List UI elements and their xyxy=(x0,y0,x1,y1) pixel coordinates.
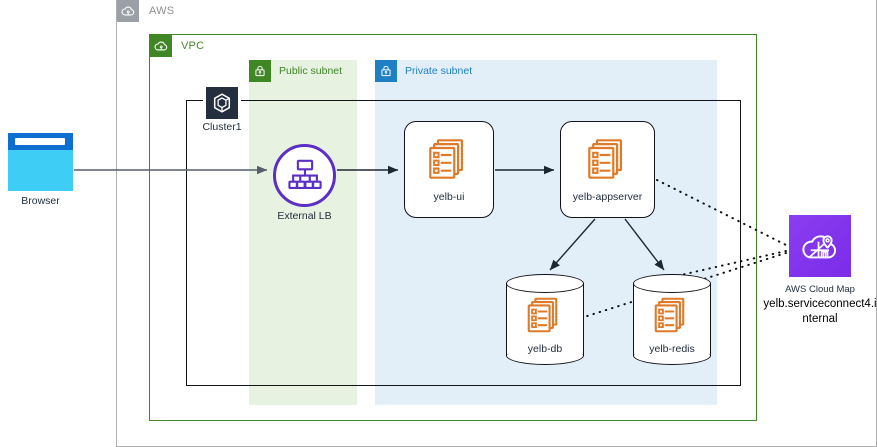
browser-node[interactable]: Browser xyxy=(8,133,73,191)
load-balancer-icon xyxy=(273,144,336,207)
aws-container-header: AWS xyxy=(117,0,174,22)
aws-cloud-map-node[interactable] xyxy=(789,215,851,277)
yelb-db-content: yelb-db xyxy=(506,292,584,358)
vpc-container-header: VPC xyxy=(150,35,204,57)
cluster1-label: Cluster1 xyxy=(142,121,302,133)
ecs-cluster-icon xyxy=(206,87,238,119)
aws-cloud-map-captions: AWS Cloud Map yelb.serviceconnect4.inter… xyxy=(763,283,877,327)
external-lb-label: External LB xyxy=(225,210,385,222)
architecture-diagram: AWS VPC xyxy=(0,0,877,447)
private-subnet-header: Private subnet xyxy=(375,60,472,82)
browser-titlebar-icon xyxy=(8,133,73,150)
cylinder-top xyxy=(633,274,711,293)
vpc-cloud-icon xyxy=(150,35,172,57)
browser-address-bar-icon xyxy=(15,138,65,145)
public-subnet-header: Public subnet xyxy=(249,60,342,82)
yelb-db-node[interactable]: yelb-db xyxy=(506,274,584,365)
external-lb-node[interactable]: External LB xyxy=(273,144,336,207)
public-subnet-label: Public subnet xyxy=(279,65,342,77)
yelb-db-label: yelb-db xyxy=(528,343,562,355)
yelb-ui-label: yelb-ui xyxy=(434,191,465,203)
ecs-task-icon xyxy=(585,136,631,187)
yelb-redis-label: yelb-redis xyxy=(649,343,695,355)
yelb-appserver-label: yelb-appserver xyxy=(573,191,642,203)
aws-cloud-map-namespace: yelb.serviceconnect4.internal xyxy=(763,297,877,327)
lock-icon xyxy=(375,60,397,82)
browser-label: Browser xyxy=(0,195,121,207)
cluster1-node[interactable]: Cluster1 xyxy=(206,87,238,119)
yelb-appserver-node[interactable]: yelb-appserver xyxy=(560,121,655,218)
aws-container-label: AWS xyxy=(149,5,174,17)
yelb-ui-node[interactable]: yelb-ui xyxy=(404,121,494,218)
ecs-task-icon xyxy=(652,295,692,340)
ecs-task-icon xyxy=(426,136,472,187)
aws-cloud-map-icon xyxy=(789,215,851,277)
yelb-redis-content: yelb-redis xyxy=(633,292,711,358)
cylinder-top xyxy=(506,274,584,293)
private-subnet-label: Private subnet xyxy=(405,65,472,77)
lock-icon xyxy=(249,60,271,82)
aws-cloud-icon xyxy=(117,0,139,22)
vpc-container-label: VPC xyxy=(181,40,204,52)
browser-window-icon xyxy=(8,150,73,191)
ecs-task-icon xyxy=(525,295,565,340)
yelb-redis-node[interactable]: yelb-redis xyxy=(633,274,711,365)
aws-cloud-map-title: AWS Cloud Map xyxy=(763,283,877,296)
